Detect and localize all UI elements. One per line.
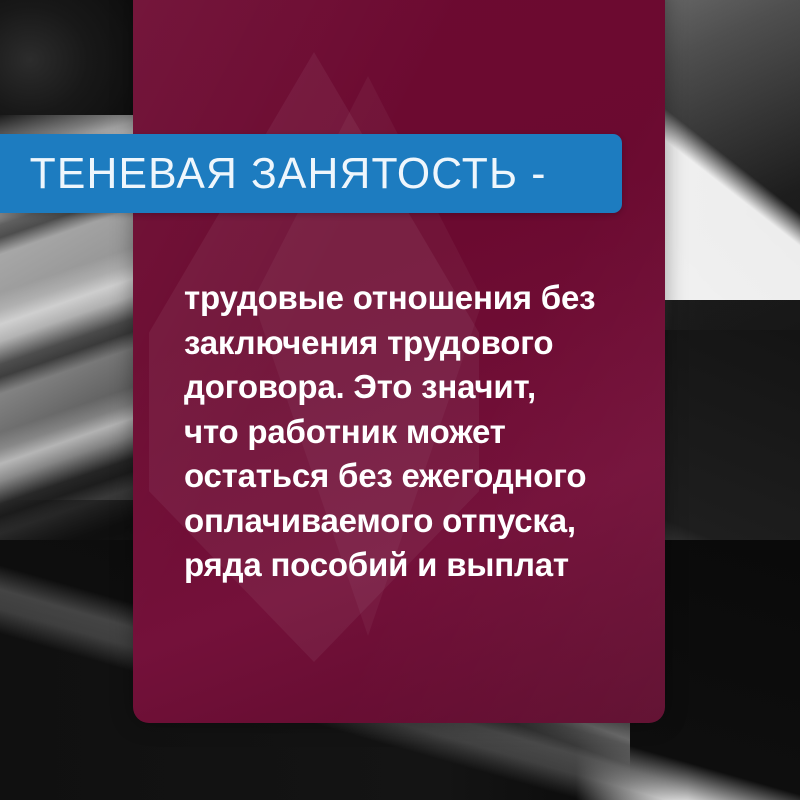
title-banner: ТЕНЕВАЯ ЗАНЯТОСТЬ - <box>0 134 622 213</box>
body-line: договора. Это значит, <box>184 365 614 410</box>
body-line: ряда пособий и выплат <box>184 543 614 588</box>
body-copy: трудовые отношения без заключения трудов… <box>184 276 614 588</box>
body-line: заключения трудового <box>184 321 614 366</box>
page-title: ТЕНЕВАЯ ЗАНЯТОСТЬ - <box>0 152 547 196</box>
body-line: оплачиваемого отпуска, <box>184 499 614 544</box>
body-line: что работник может <box>184 410 614 455</box>
body-line: трудовые отношения без <box>184 276 614 321</box>
body-line: остаться без ежегодного <box>184 454 614 499</box>
poster-canvas: ТЕНЕВАЯ ЗАНЯТОСТЬ - трудовые отношения б… <box>0 0 800 800</box>
